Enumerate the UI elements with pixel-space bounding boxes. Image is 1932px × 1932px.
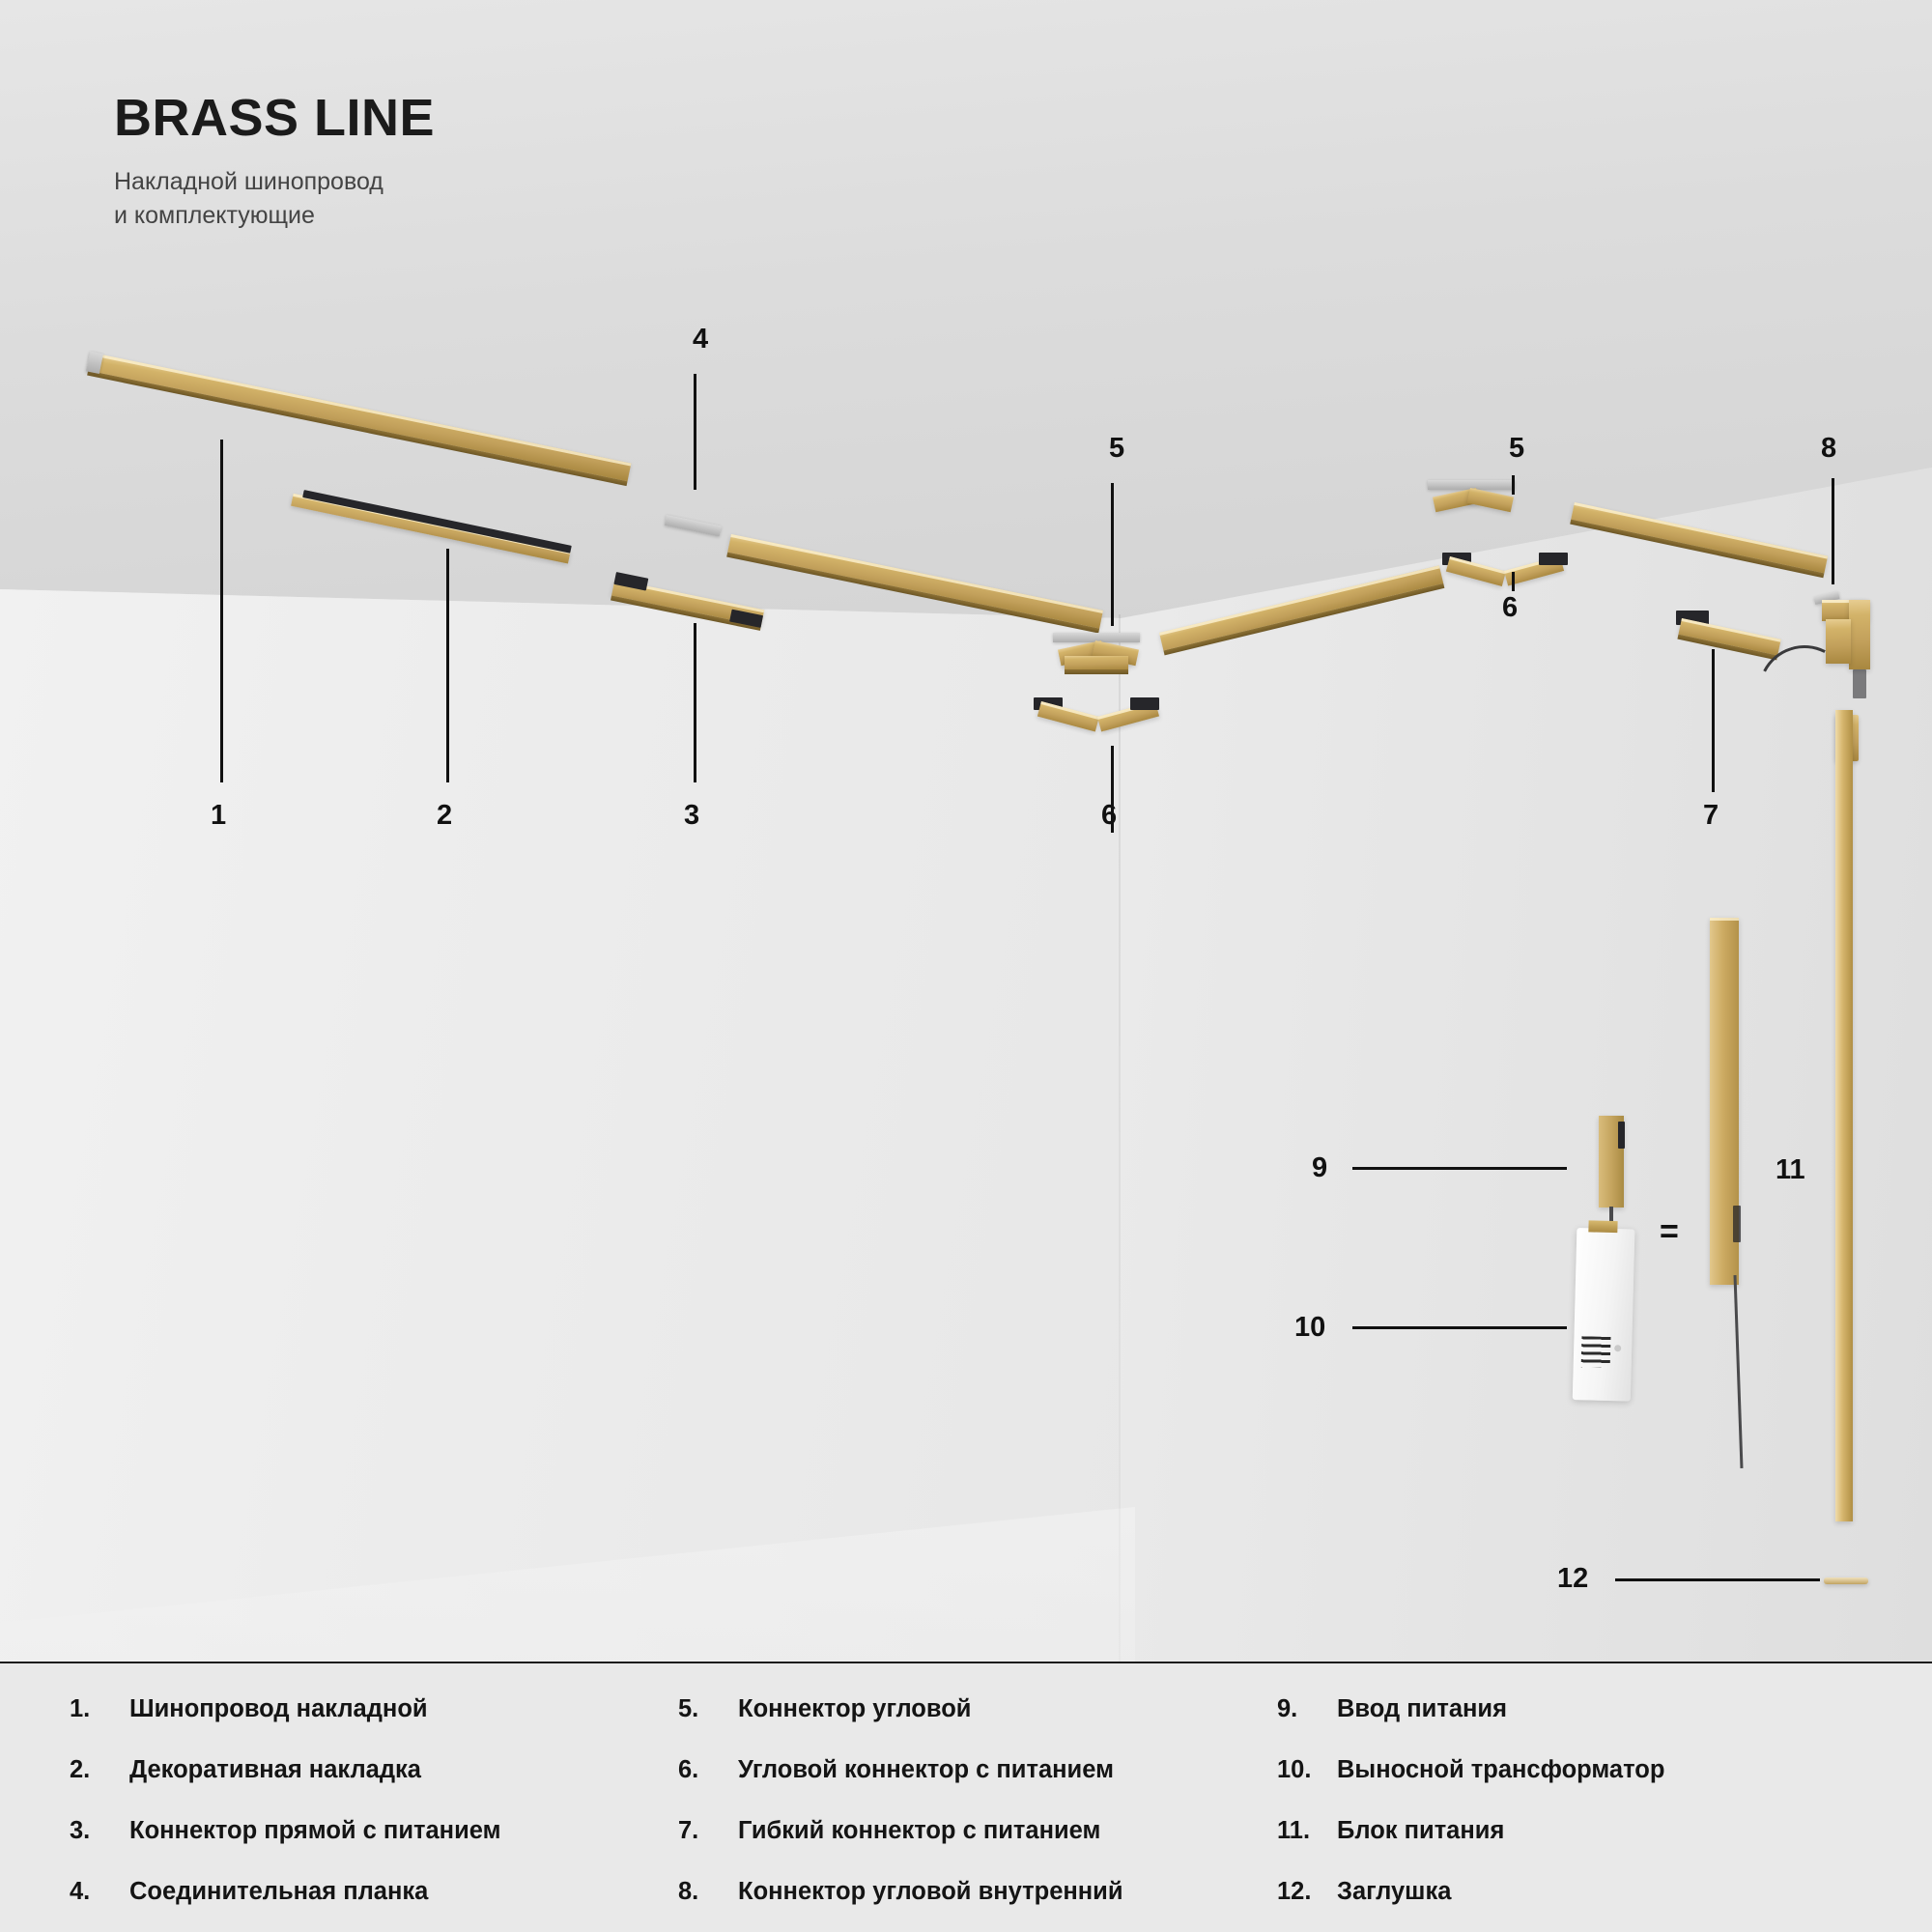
callout-number-5b: 5 [1509,435,1524,463]
leader-line-9 [1352,1167,1567,1170]
powered-corner-connector-a [1034,694,1159,753]
power-input-contact [1618,1122,1625,1149]
equals-sign: = [1660,1215,1679,1248]
page-subtitle-line-2: и комплектующие [114,199,435,233]
legend-item-4-number: 4. [70,1878,129,1906]
legend-item-12-number: 12. [1277,1878,1337,1906]
legend-item-6-label: Угловой коннектор с питанием [738,1756,1114,1784]
poster-header: BRASS LINE Накладной шинопровод и компле… [114,92,435,232]
legend-item-2-label: Декоративная накладка [129,1756,421,1784]
leader-line-12 [1615,1578,1820,1581]
end-cap-rail-body [1835,710,1853,1521]
page-title: BRASS LINE [114,92,435,144]
end-cap-piece [1824,1577,1868,1589]
remote-transformer-vents [1581,1336,1611,1368]
legend-item-3-label: Коннектор прямой с питанием [129,1817,500,1845]
remote-transformer-body [1573,1228,1635,1402]
legend-item-3: 3. Коннектор прямой с питанием [70,1817,678,1845]
legend-item-11: 11. Блок питания [1277,1817,1857,1845]
callout-number-5a: 5 [1109,435,1124,463]
leader-line-5b [1512,475,1515,495]
legend-item-5: 5. Коннектор угловой [678,1695,1277,1723]
power-supply-lead [1737,1275,1776,1478]
callout-number-1: 1 [211,802,226,830]
legend-item-12-label: Заглушка [1337,1878,1451,1906]
corner-connector-a [1053,633,1140,681]
corner-connector-a-base [1065,656,1128,669]
legend-item-9-number: 9. [1277,1695,1337,1723]
inner-corner-connector [1822,594,1889,700]
legend-item-8: 8. Коннектор угловой внутренний [678,1878,1277,1906]
inner-corner-bottom-tab [1853,669,1866,698]
page-subtitle: Накладной шинопровод и комплектующие [114,165,435,232]
legend-item-2: 2. Декоративная накладка [70,1756,678,1784]
legend-item-7-number: 7. [678,1817,738,1845]
leader-line-2 [446,549,449,782]
remote-transformer [1573,1228,1650,1408]
legend-item-4-label: Соединительная планка [129,1878,428,1906]
inner-corner-vertical-leg [1849,600,1870,669]
powered-corner-b-left-leg [1446,556,1506,586]
legend-item-10-number: 10. [1277,1756,1337,1784]
legend-item-5-number: 5. [678,1695,738,1723]
legend-column-3: 9. Ввод питания 10. Выносной трансформат… [1277,1695,1857,1906]
legend: 1. Шинопровод накладной 2. Декоративная … [0,1695,1932,1906]
flexible-connector-body [1678,618,1780,655]
leader-line-4 [694,374,696,490]
legend-item-8-number: 8. [678,1878,738,1906]
legend-item-1-number: 1. [70,1695,129,1723]
end-cap-piece-body [1824,1577,1868,1584]
legend-item-9-label: Ввод питания [1337,1695,1507,1723]
page-subtitle-line-1: Накладной шинопровод [114,165,435,199]
legend-item-7-label: Гибкий коннектор с питанием [738,1817,1100,1845]
powered-corner-a-end-right [1130,697,1159,710]
legend-item-5-label: Коннектор угловой [738,1695,971,1723]
inner-corner-knuckle [1826,619,1851,664]
callout-number-9: 9 [1312,1154,1327,1182]
power-supply-unit [1710,918,1748,1285]
legend-item-2-number: 2. [70,1756,129,1784]
legend-item-10: 10. Выносной трансформатор [1277,1756,1857,1784]
poster-root: 1 2 3 4 5 6 5 6 7 8 9 10 11 [0,0,1932,1932]
legend-item-11-number: 11. [1277,1817,1337,1845]
legend-item-6-number: 6. [678,1756,738,1784]
legend-item-1: 1. Шинопровод накладной [70,1695,678,1723]
callout-number-6a: 6 [1101,802,1117,830]
powered-corner-a-left-leg [1037,701,1099,732]
callout-number-10: 10 [1294,1314,1325,1342]
leader-line-3 [694,623,696,782]
callout-number-7: 7 [1703,802,1719,830]
legend-item-6: 6. Угловой коннектор с питанием [678,1756,1277,1784]
wall-corner-seam [1119,614,1121,1662]
legend-item-12: 12. Заглушка [1277,1878,1857,1906]
corner-connector-b-right-leg [1467,488,1514,512]
leader-line-1 [220,440,223,782]
end-cap-rail [1835,710,1864,1521]
leader-line-5a [1111,483,1114,626]
callout-number-11: 11 [1776,1156,1805,1184]
legend-divider [0,1662,1932,1663]
callout-number-8: 8 [1821,435,1836,463]
leader-line-10 [1352,1326,1567,1329]
remote-transformer-brass-tab [1588,1220,1617,1233]
legend-item-3-number: 3. [70,1817,129,1845]
legend-item-11-label: Блок питания [1337,1817,1504,1845]
callout-number-4: 4 [693,326,708,354]
leader-line-6b [1512,572,1515,591]
legend-column-2: 5. Коннектор угловой 6. Угловой коннекто… [678,1695,1277,1906]
corner-connector-b [1428,478,1515,525]
room-scene: 1 2 3 4 5 6 5 6 7 8 9 10 11 [0,0,1932,1662]
legend-item-8-label: Коннектор угловой внутренний [738,1878,1123,1906]
legend-item-1-label: Шинопровод накладной [129,1695,428,1723]
callout-number-3: 3 [684,802,699,830]
callout-number-12: 12 [1557,1565,1588,1593]
callout-number-6b: 6 [1502,594,1518,622]
legend-item-10-label: Выносной трансформатор [1337,1756,1664,1784]
power-supply-port [1733,1206,1741,1242]
legend-item-4: 4. Соединительная планка [70,1878,678,1906]
legend-item-9: 9. Ввод питания [1277,1695,1857,1723]
legend-column-1: 1. Шинопровод накладной 2. Декоративная … [70,1695,678,1906]
leader-line-7 [1712,649,1715,792]
leader-line-8 [1832,478,1834,584]
legend-item-7: 7. Гибкий коннектор с питанием [678,1817,1277,1845]
callout-number-2: 2 [437,802,452,830]
